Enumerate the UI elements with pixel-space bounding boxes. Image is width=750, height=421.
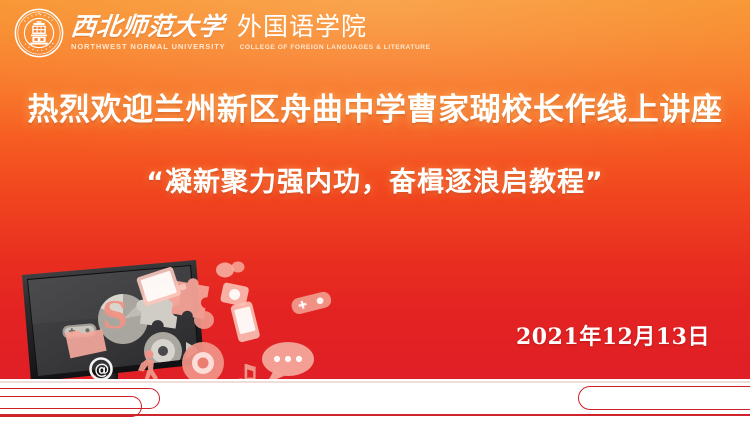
event-date: 2021年12月13日	[516, 319, 710, 351]
logo-wordmark: 西北师范大学 外国语学院 NORTHWEST NORMAL UNIVERSITY…	[71, 14, 431, 51]
logo-chinese-row: 西北师范大学 外国语学院	[71, 14, 431, 39]
university-name-cn: 西北师范大学	[70, 14, 226, 39]
svg-text:S: S	[102, 295, 128, 337]
subhead-text: “凝新聚力强内功，奋楫逐浪启教程”	[0, 160, 750, 199]
disc-icon	[182, 342, 224, 384]
blob-icon	[194, 311, 214, 329]
poster-banner: 西北师范大学 外国语学院 NORTHWEST NORMAL UNIVERSITY…	[0, 0, 750, 421]
svg-text:@: @	[94, 361, 109, 379]
university-seal-icon	[14, 8, 64, 58]
blob-icon	[216, 262, 245, 278]
university-name-en: NORTHWEST NORMAL UNIVERSITY	[71, 42, 226, 51]
decor-stadium-left-upper	[0, 388, 160, 409]
top-hairline-rule	[0, 381, 750, 383]
college-name-cn: 外国语学院	[237, 14, 367, 39]
bottom-hairline-rule	[0, 414, 750, 416]
at-sign-icon: @	[91, 359, 112, 380]
decor-stadium-right	[578, 386, 750, 410]
mobile-phone-icon	[230, 301, 261, 343]
university-logo-lockup: 西北师范大学 外国语学院 NORTHWEST NORMAL UNIVERSITY…	[14, 6, 431, 60]
chat-bubble-icon	[262, 342, 314, 383]
gamepad-icon	[290, 290, 333, 315]
college-name-en: COLLEGE OF FOREIGN LANGUAGES & LITERATUR…	[240, 44, 431, 51]
headline-text: 热烈欢迎兰州新区舟曲中学曹家瑚校长作线上讲座	[0, 84, 750, 129]
logo-english-row: NORTHWEST NORMAL UNIVERSITY COLLEGE OF F…	[71, 42, 431, 51]
letter-s-icon: S	[102, 295, 128, 337]
